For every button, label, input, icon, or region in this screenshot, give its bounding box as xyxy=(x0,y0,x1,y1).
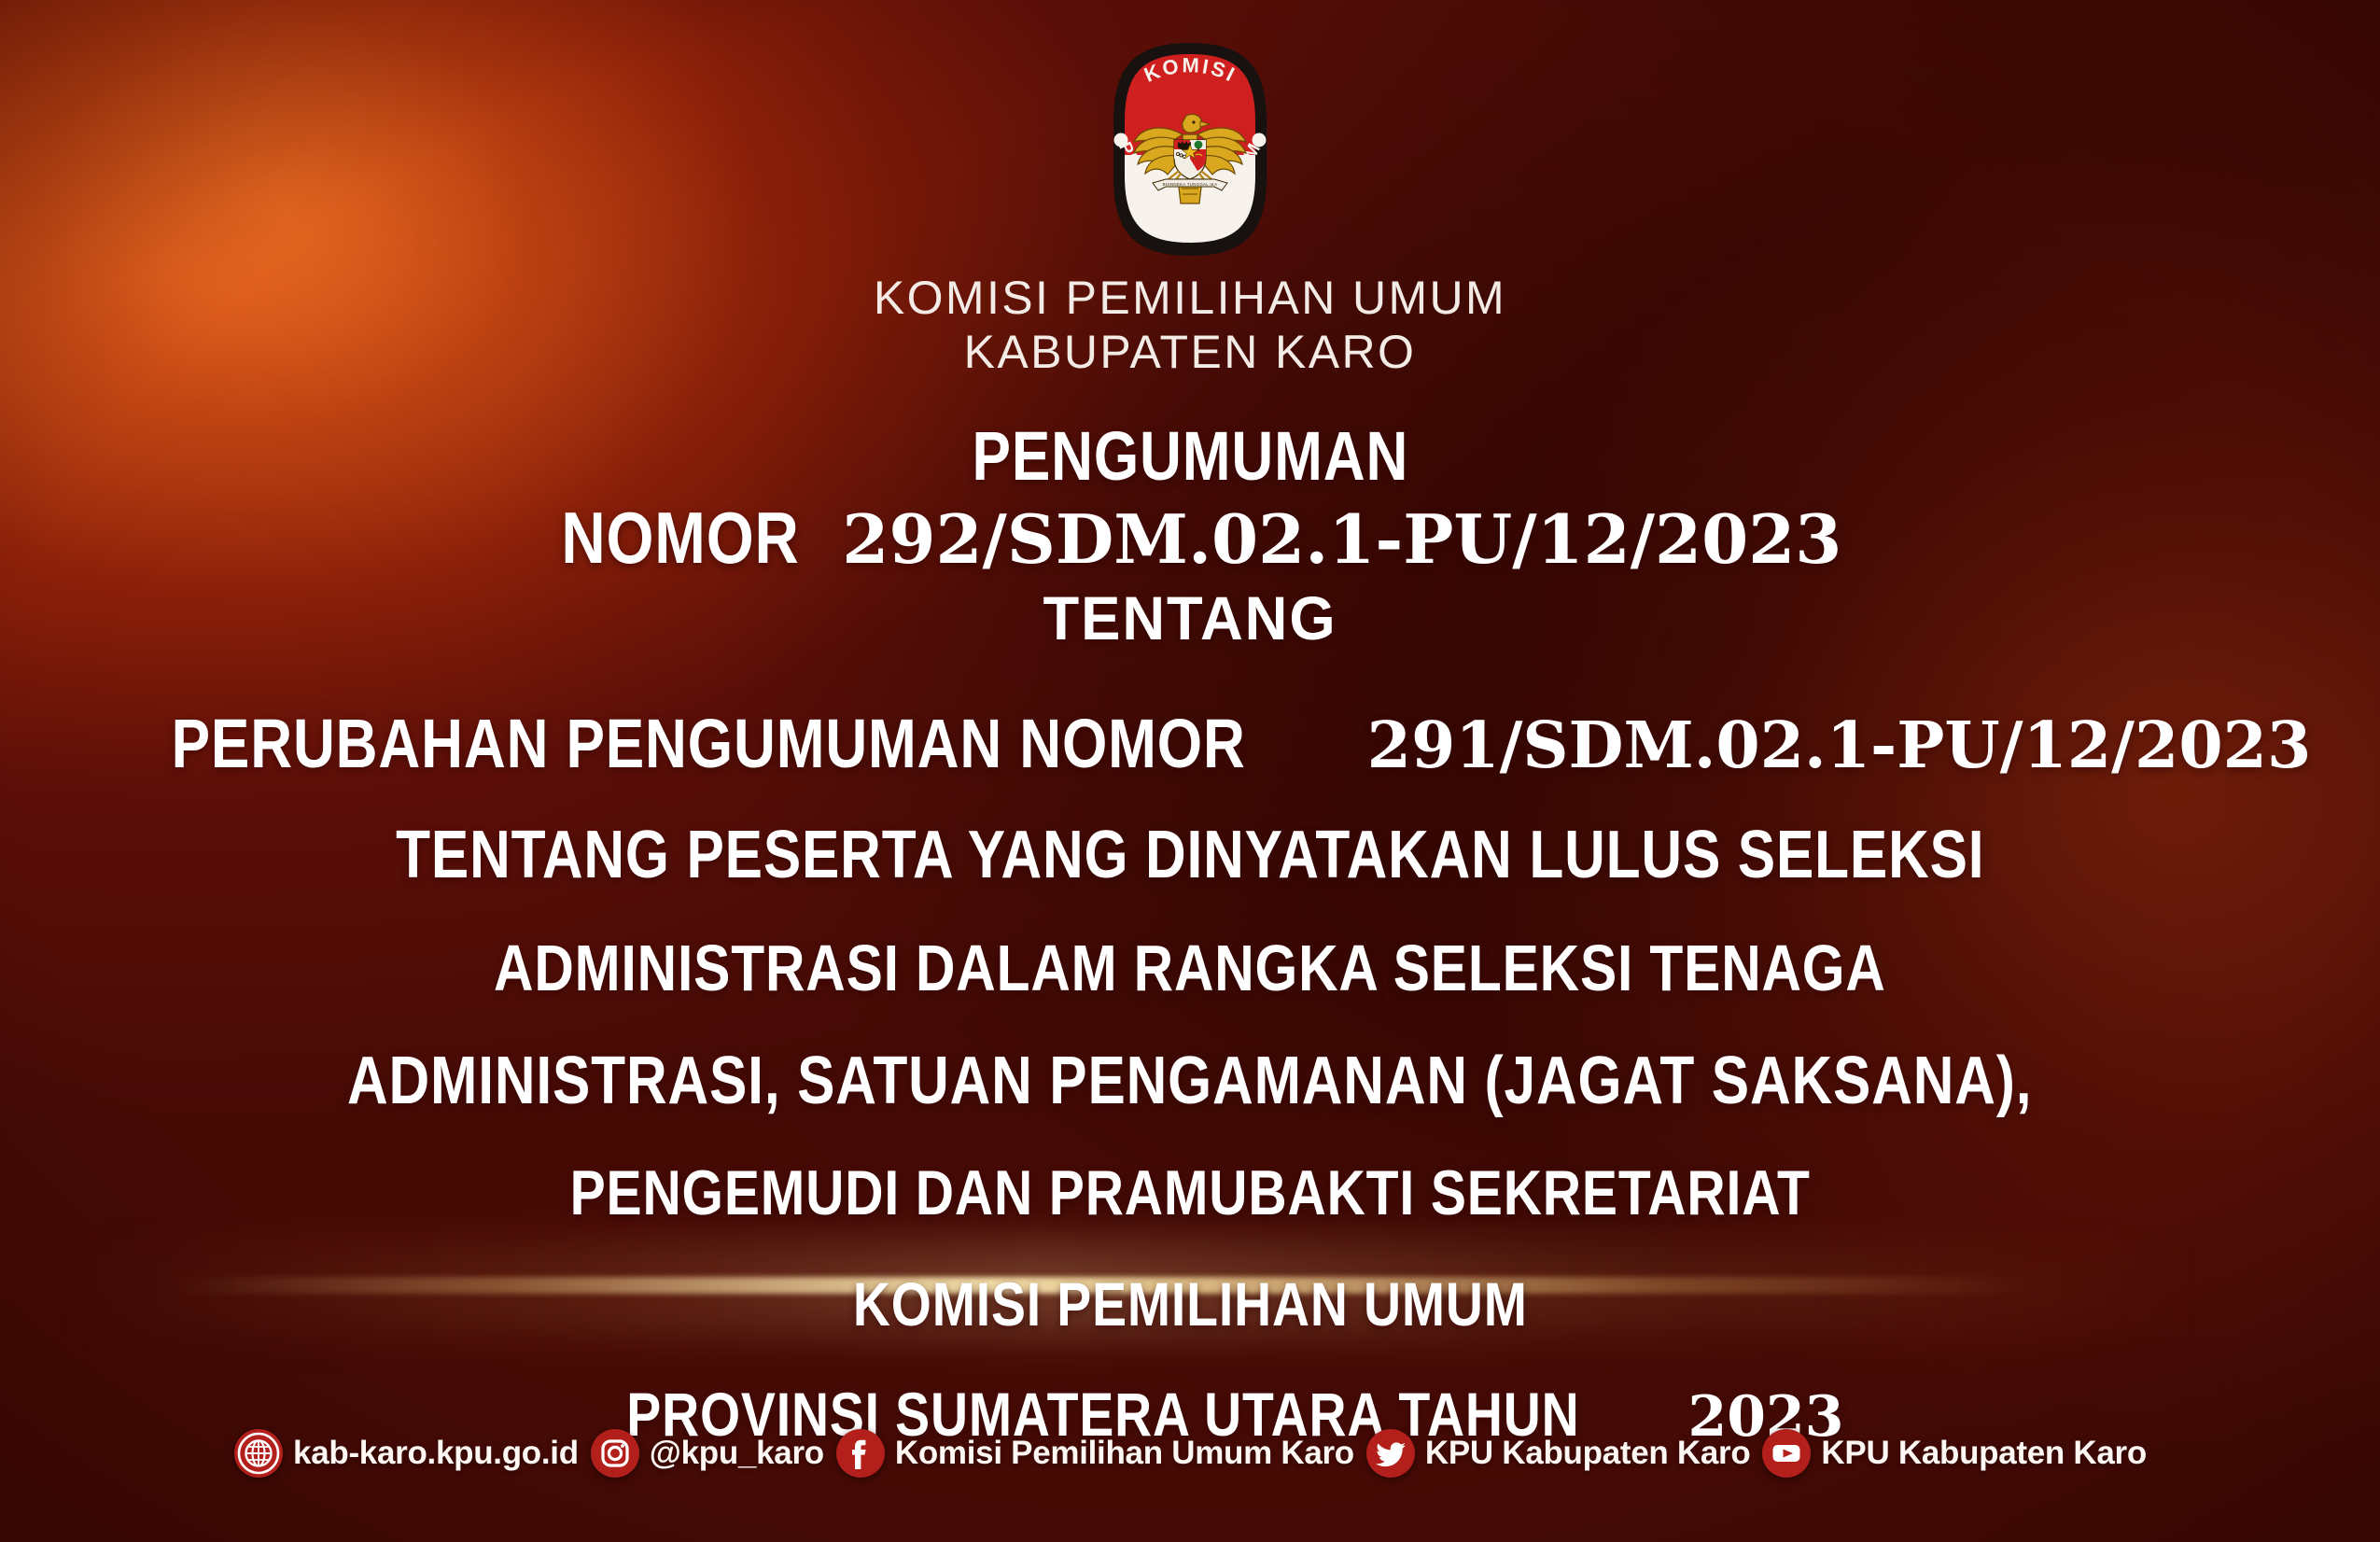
body-line-6-text: KOMISI PEMILIHAN UMUM xyxy=(853,1273,1528,1335)
social-footer-bar: kab-karo.kpu.go.id @kpu_karo xyxy=(0,1428,2380,1479)
headline-pengumuman-text: PENGUMUMAN xyxy=(972,422,1408,491)
social-label-twitter: KPU Kabupaten Karo xyxy=(1425,1435,1751,1472)
facebook-icon xyxy=(835,1428,886,1479)
social-label-facebook: Komisi Pemilihan Umum Karo xyxy=(895,1435,1354,1472)
globe-icon xyxy=(233,1428,284,1479)
kpu-logo: KOMISI PEMILIHAN UMUM xyxy=(1097,35,1283,263)
headline-pengumuman: PENGUMUMAN xyxy=(0,422,2380,491)
body-line-2-text: TENTANG PESERTA YANG DINYATAKAN LULUS SE… xyxy=(396,821,1984,889)
youtube-icon xyxy=(1761,1428,1812,1479)
org-line-1: KOMISI PEMILIHAN UMUM xyxy=(0,271,2380,325)
organization-name: KOMISI PEMILIHAN UMUM KABUPATEN KARO xyxy=(0,271,2380,379)
svg-text:BHINNEKA TUNGGAL IKA: BHINNEKA TUNGGAL IKA xyxy=(1163,182,1218,187)
announcement-body: PERUBAHAN PENGUMUMAN NOMOR 291/SDM.02.1-… xyxy=(0,709,2380,1445)
social-label-instagram: @kpu_karo xyxy=(650,1435,824,1472)
headline-nomor-value: 292/SDM.02.1-PU/12/2023 xyxy=(842,499,1841,579)
headline-tentang-text: TENTANG xyxy=(1043,582,1337,654)
headline-nomor-label: NOMOR xyxy=(561,498,799,577)
instagram-icon xyxy=(590,1428,640,1479)
body-line-1-number: 291/SDM.02.1-PU/12/2023 xyxy=(1367,708,2312,783)
social-item-youtube[interactable]: KPU Kabupaten Karo xyxy=(1756,1428,2152,1479)
body-line-1: PERUBAHAN PENGUMUMAN NOMOR 291/SDM.02.1-… xyxy=(0,709,2380,778)
poster-canvas: KOMISI PEMILIHAN UMUM xyxy=(0,0,2380,1542)
body-line-4-text: ADMINISTRASI, SATUAN PENGAMANAN (JAGAT S… xyxy=(347,1047,2032,1114)
body-line-4: ADMINISTRASI, SATUAN PENGAMANAN (JAGAT S… xyxy=(0,1047,2380,1114)
poster-content: KOMISI PEMILIHAN UMUM xyxy=(0,0,2380,1542)
body-line-5-text: PENGEMUDI DAN PRAMUBAKTI SEKRETARIAT xyxy=(569,1161,1810,1225)
body-line-3: ADMINISTRASI DALAM RANGKA SELEKSI TENAGA xyxy=(0,935,2380,1001)
social-item-website[interactable]: kab-karo.kpu.go.id xyxy=(228,1428,584,1479)
headline-tentang: TENTANG xyxy=(0,582,2380,654)
social-item-instagram[interactable]: @kpu_karo xyxy=(584,1428,830,1479)
social-label-youtube: KPU Kabupaten Karo xyxy=(1821,1435,2147,1472)
body-line-6: KOMISI PEMILIHAN UMUM xyxy=(0,1273,2380,1335)
social-label-website: kab-karo.kpu.go.id xyxy=(293,1435,579,1472)
org-line-2: KABUPATEN KARO xyxy=(0,325,2380,379)
headline-nomor: NOMOR 292/SDM.02.1-PU/12/2023 xyxy=(0,498,2380,577)
body-line-5: PENGEMUDI DAN PRAMUBAKTI SEKRETARIAT xyxy=(0,1161,2380,1225)
body-line-1-label: PERUBAHAN PENGUMUMAN NOMOR xyxy=(171,709,1245,778)
body-line-2: TENTANG PESERTA YANG DINYATAKAN LULUS SE… xyxy=(0,821,2380,889)
social-item-twitter[interactable]: KPU Kabupaten Karo xyxy=(1360,1428,1757,1479)
social-item-facebook[interactable]: Komisi Pemilihan Umum Karo xyxy=(830,1428,1360,1479)
twitter-icon xyxy=(1365,1428,1416,1479)
body-line-3-text: ADMINISTRASI DALAM RANGKA SELEKSI TENAGA xyxy=(494,935,1886,1001)
announcement-headline: PENGUMUMAN NOMOR 292/SDM.02.1-PU/12/2023… xyxy=(0,422,2380,669)
